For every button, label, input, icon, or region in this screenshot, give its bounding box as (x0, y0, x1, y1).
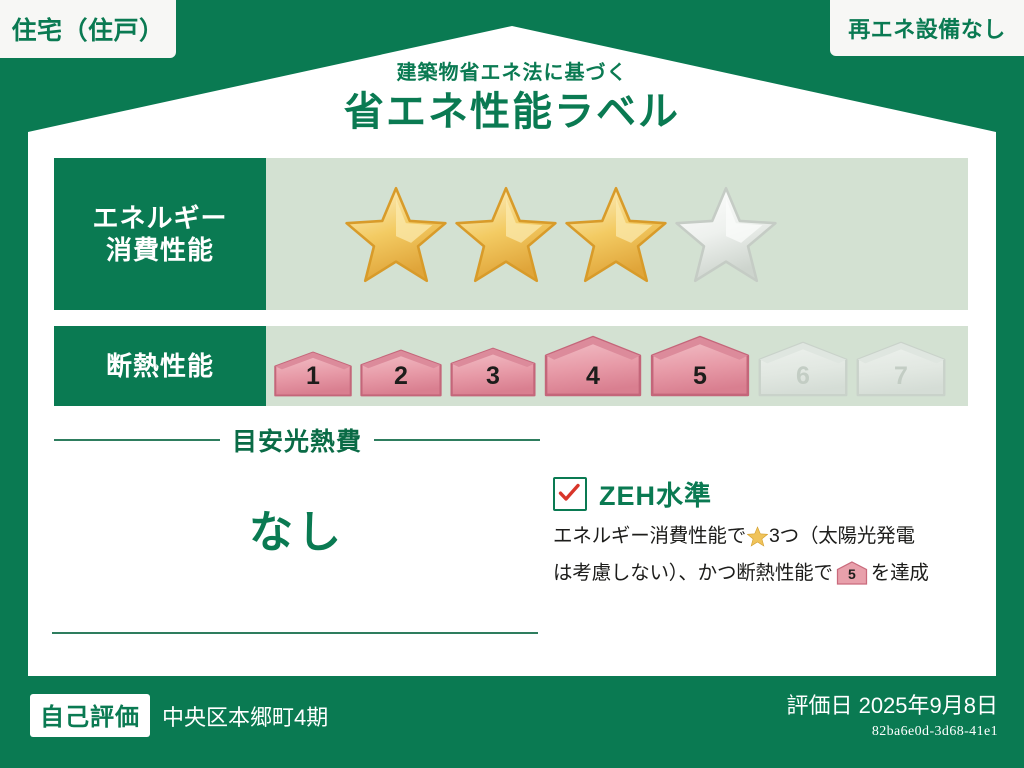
zeh-title: ZEH水準 (599, 474, 712, 513)
badge-renewable-equipment: 再エネ設備なし (830, 0, 1024, 56)
footer: 自己評価 中央区本郷町4期 評価日 2025年9月8日 82ba6e0d-3d6… (0, 676, 1024, 768)
insulation-level-badge-6: 6 (756, 341, 850, 397)
star-icon-empty (674, 184, 778, 284)
house-icon (854, 341, 948, 397)
zeh-desc-2a: は考慮しない）、かつ断熱性能で (553, 559, 833, 587)
zeh-desc-2b: を達成 (871, 559, 929, 587)
zeh-standard-block: ZEH水準 エネルギー消費性能で 3つ（太陽光発電 は考慮しない）、かつ断熱性能… (553, 474, 973, 588)
utility-cost-bottom-divider (52, 632, 538, 634)
house-icon (358, 349, 444, 397)
divider-left (54, 439, 220, 441)
house-icon (542, 335, 644, 397)
evaluation-id: 82ba6e0d-3d68-41e1 (786, 724, 998, 740)
star-icon (747, 526, 768, 547)
energy-label-line1: エネルギー (92, 202, 227, 235)
insulation-level-badge-inline: 5 (836, 561, 868, 585)
insulation-level-badge-5: 5 (648, 335, 752, 397)
energy-label-line2: 消費性能 (106, 234, 214, 267)
site-name: 中央区本郷町4期 (162, 700, 328, 732)
badge-dwelling-type: 住宅（住戸） (0, 0, 176, 58)
utility-cost-value: なし (54, 496, 540, 560)
house-icon (448, 347, 538, 397)
energy-performance-label-box: エネルギー 消費性能 (54, 158, 266, 310)
insulation-level-badge-inline-value: 5 (836, 564, 868, 584)
badge-dwelling-type-label: 住宅（住戸） (11, 11, 164, 47)
insulation-rating-body: 1234567 (266, 326, 968, 406)
insulation-level-badge-4: 4 (542, 335, 644, 397)
footer-left: 自己評価 中央区本郷町4期 (30, 694, 328, 737)
star-icon-filled (344, 184, 448, 284)
badge-renewable-equipment-label: 再エネ設備なし (848, 12, 1006, 44)
house-icon (272, 351, 354, 397)
evaluation-type-badge: 自己評価 (30, 694, 150, 737)
utility-cost-header: 目安光熱費 (54, 422, 540, 458)
insulation-performance-panel: 断熱性能 1234567 (54, 326, 968, 406)
zeh-checkbox[interactable] (553, 477, 587, 511)
insulation-level-scale: 1234567 (272, 335, 948, 397)
energy-rating-body (266, 158, 968, 310)
star-rating (344, 184, 778, 284)
zeh-heading: ZEH水準 (553, 474, 973, 513)
energy-performance-label: 住宅（住戸） 再エネ設備なし 建築物省エネ法に基づく 省エネ性能ラベル エネルギ… (0, 0, 1024, 768)
evaluation-date: 評価日 2025年9月8日 (786, 688, 998, 720)
insulation-level-badge-7: 7 (854, 341, 948, 397)
house-icon (648, 335, 752, 397)
footer-right: 評価日 2025年9月8日 82ba6e0d-3d68-41e1 (786, 688, 998, 740)
zeh-desc-1a: エネルギー消費性能で (553, 522, 746, 550)
zeh-desc-1b: 3つ（太陽光発電 (769, 522, 915, 550)
check-icon (557, 481, 581, 505)
insulation-performance-label-box: 断熱性能 (54, 326, 266, 406)
title-block: 建築物省エネ法に基づく 省エネ性能ラベル (0, 62, 1024, 134)
star-icon-filled (564, 184, 668, 284)
subtitle: 建築物省エネ法に基づく (0, 62, 1024, 84)
star-icon-filled (454, 184, 558, 284)
zeh-description-line-2: は考慮しない）、かつ断熱性能で 5 を達成 (553, 559, 973, 587)
insulation-level-badge-1: 1 (272, 351, 354, 397)
utility-cost-title: 目安光熱費 (232, 422, 362, 458)
insulation-level-badge-2: 2 (358, 349, 444, 397)
energy-performance-panel: エネルギー 消費性能 (54, 158, 968, 310)
zeh-description-line-1: エネルギー消費性能で 3つ（太陽光発電 (553, 522, 973, 550)
house-icon (756, 341, 850, 397)
divider-right (374, 439, 540, 441)
insulation-level-badge-3: 3 (448, 347, 538, 397)
page-title: 省エネ性能ラベル (0, 90, 1024, 134)
insulation-label: 断熱性能 (106, 350, 214, 383)
